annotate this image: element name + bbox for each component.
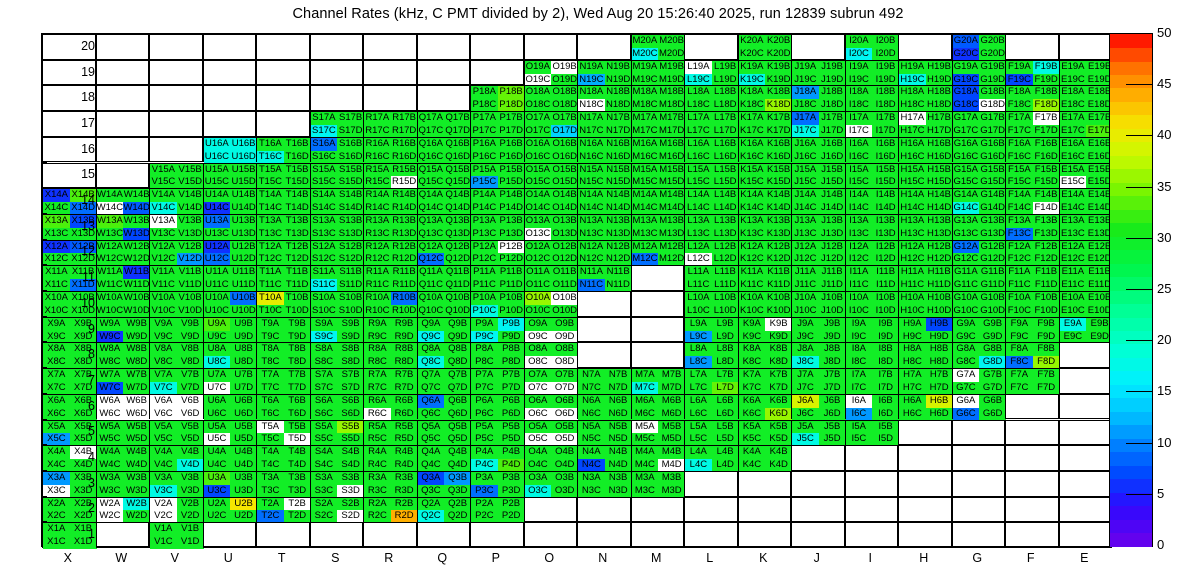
channel-cell[interactable]: H13A <box>899 215 926 228</box>
channel-cell[interactable]: N7A <box>578 369 605 382</box>
channel-cell[interactable]: O13A <box>525 215 552 228</box>
channel-cell[interactable]: N18B <box>605 86 632 99</box>
channel-cell[interactable]: O10A <box>525 292 552 305</box>
channel-cell[interactable]: H15B <box>926 164 953 177</box>
channel-cell[interactable]: E17A <box>1060 112 1087 125</box>
channel-cell[interactable]: G13A <box>953 215 980 228</box>
channel-cell[interactable]: W8B <box>123 343 150 356</box>
channel-cell[interactable]: M7A <box>632 369 659 382</box>
channel-cell[interactable]: W10B <box>123 292 150 305</box>
channel-cell[interactable]: N17B <box>605 112 632 125</box>
channel-cell[interactable]: H15A <box>899 164 926 177</box>
channel-cell[interactable]: I16B <box>872 138 899 151</box>
channel-cell[interactable]: W2A <box>97 498 124 511</box>
channel-cell[interactable]: W6A <box>97 395 124 408</box>
channel-cell[interactable]: R3B <box>391 472 418 485</box>
channel-cell[interactable]: H16B <box>926 138 953 151</box>
channel-cell[interactable]: F16A <box>1006 138 1033 151</box>
channel-cell[interactable]: H14A <box>899 189 926 202</box>
channel-cell[interactable]: S6B <box>337 395 364 408</box>
channel-cell[interactable]: G13B <box>979 215 1006 228</box>
channel-cell[interactable]: O5A <box>525 421 552 434</box>
channel-cell[interactable]: K19A <box>739 61 766 74</box>
channel-cell[interactable]: W3A <box>97 472 124 485</box>
channel-cell[interactable]: H18B <box>926 86 953 99</box>
channel-cell[interactable]: H11B <box>926 266 953 279</box>
channel-cell[interactable]: L17A <box>685 112 712 125</box>
channel-cell[interactable]: V2B <box>177 498 204 511</box>
channel-cell[interactable]: T13A <box>257 215 284 228</box>
channel-cell[interactable]: F15B <box>1033 164 1060 177</box>
channel-cell[interactable]: M12B <box>658 241 685 254</box>
channel-cell[interactable]: N13B <box>605 215 632 228</box>
channel-cell[interactable]: P3B <box>498 472 525 485</box>
channel-cell[interactable]: M16A <box>632 138 659 151</box>
channel-cell[interactable]: Q4B <box>444 446 471 459</box>
channel-cell[interactable]: K10A <box>739 292 766 305</box>
channel-cell[interactable]: L14A <box>685 189 712 202</box>
channel-cell[interactable]: F15A <box>1006 164 1033 177</box>
channel-cell[interactable]: K17A <box>739 112 766 125</box>
channel-cell[interactable]: L16B <box>712 138 739 151</box>
channel-cell[interactable]: J8A <box>792 343 819 356</box>
channel-cell[interactable]: S17B <box>337 112 364 125</box>
channel-cell[interactable]: Q13A <box>418 215 445 228</box>
channel-cell[interactable]: K5A <box>739 421 766 434</box>
channel-cell[interactable]: O4A <box>525 446 552 459</box>
channel-cell[interactable]: M13A <box>632 215 659 228</box>
channel-cell[interactable]: F9B <box>1033 318 1060 331</box>
channel-cell[interactable]: I14A <box>846 189 873 202</box>
channel-cell[interactable]: M17A <box>632 112 659 125</box>
channel-cell[interactable]: T10B <box>284 292 311 305</box>
channel-cell[interactable]: P6B <box>498 395 525 408</box>
channel-cell[interactable]: V5B <box>177 421 204 434</box>
channel-cell[interactable]: H11A <box>899 266 926 279</box>
channel-cell[interactable]: W14A <box>97 189 124 202</box>
channel-cell[interactable]: S4A <box>311 446 338 459</box>
channel-cell[interactable]: Q7B <box>444 369 471 382</box>
channel-cell[interactable]: T16A <box>257 138 284 151</box>
channel-cell[interactable]: M6A <box>632 395 659 408</box>
channel-cell[interactable]: I13A <box>846 215 873 228</box>
channel-cell[interactable]: M5A <box>632 421 659 434</box>
channel-cell[interactable]: O12A <box>525 241 552 254</box>
channel-cell[interactable]: S10B <box>337 292 364 305</box>
channel-cell[interactable]: U5B <box>230 421 257 434</box>
channel-cell[interactable]: G18A <box>953 86 980 99</box>
channel-cell[interactable]: S12B <box>337 241 364 254</box>
channel-cell[interactable]: U9A <box>204 318 231 331</box>
channel-cell[interactable]: G12A <box>953 241 980 254</box>
channel-cell[interactable]: S13A <box>311 215 338 228</box>
channel-cell[interactable]: H6A <box>899 395 926 408</box>
channel-cell[interactable]: R10B <box>391 292 418 305</box>
channel-cell[interactable]: N18A <box>578 86 605 99</box>
channel-cell[interactable]: G16A <box>953 138 980 151</box>
channel-cell[interactable]: Q3A <box>418 472 445 485</box>
channel-cell[interactable]: Q6B <box>444 395 471 408</box>
channel-cell[interactable]: Q5B <box>444 421 471 434</box>
channel-cell[interactable]: H18A <box>899 86 926 99</box>
channel-cell[interactable]: G14B <box>979 189 1006 202</box>
channel-cell[interactable]: N5A <box>578 421 605 434</box>
channel-cell[interactable]: I9A <box>846 318 873 331</box>
channel-cell[interactable]: L7A <box>685 369 712 382</box>
channel-cell[interactable]: M13B <box>658 215 685 228</box>
channel-cell[interactable]: P2A <box>471 498 498 511</box>
channel-cell[interactable]: S11A <box>311 266 338 279</box>
channel-cell[interactable]: L9B <box>712 318 739 331</box>
channel-cell[interactable]: M14A <box>632 189 659 202</box>
channel-cell[interactable]: N6B <box>605 395 632 408</box>
channel-cell[interactable]: G11B <box>979 266 1006 279</box>
channel-cell[interactable]: W3B <box>123 472 150 485</box>
channel-cell[interactable]: L12B <box>712 241 739 254</box>
channel-cell[interactable]: N6A <box>578 395 605 408</box>
channel-cell[interactable]: U11B <box>230 266 257 279</box>
channel-cell[interactable]: H6B <box>926 395 953 408</box>
channel-cell[interactable]: P18A <box>471 86 498 99</box>
channel-cell[interactable]: P15B <box>498 164 525 177</box>
channel-cell[interactable]: N4B <box>605 446 632 459</box>
channel-cell[interactable]: R17B <box>391 112 418 125</box>
channel-cell[interactable]: W9B <box>123 318 150 331</box>
channel-cell[interactable]: O9B <box>551 318 578 331</box>
channel-cell[interactable]: W12B <box>123 241 150 254</box>
channel-cell[interactable]: U14A <box>204 189 231 202</box>
channel-cell[interactable]: O11B <box>551 266 578 279</box>
channel-cell[interactable]: G7A <box>953 369 980 382</box>
channel-cell[interactable]: S15A <box>311 164 338 177</box>
channel-cell[interactable]: P13B <box>498 215 525 228</box>
channel-cell[interactable]: J15A <box>792 164 819 177</box>
channel-cell[interactable]: F10A <box>1006 292 1033 305</box>
channel-cell[interactable]: H9A <box>899 318 926 331</box>
channel-cell[interactable]: W13A <box>97 215 124 228</box>
channel-cell[interactable]: O5B <box>551 421 578 434</box>
channel-cell[interactable]: L14B <box>712 189 739 202</box>
channel-cell[interactable]: P12B <box>498 241 525 254</box>
channel-cell[interactable]: W9A <box>97 318 124 331</box>
channel-cell[interactable]: O15B <box>551 164 578 177</box>
channel-cell[interactable]: L16A <box>685 138 712 151</box>
channel-cell[interactable]: H14B <box>926 189 953 202</box>
channel-cell[interactable]: Q10B <box>444 292 471 305</box>
channel-cell[interactable]: M18A <box>632 86 659 99</box>
channel-cell[interactable]: P5A <box>471 421 498 434</box>
channel-cell[interactable]: Q6A <box>418 395 445 408</box>
channel-cell[interactable]: J16A <box>792 138 819 151</box>
channel-cell[interactable]: T5A <box>257 421 284 434</box>
channel-cell[interactable]: K4A <box>739 446 766 459</box>
channel-cell[interactable]: R17A <box>364 112 391 125</box>
channel-cell[interactable]: M15B <box>658 164 685 177</box>
channel-cell[interactable]: U7B <box>230 369 257 382</box>
channel-cell[interactable]: Q17B <box>444 112 471 125</box>
channel-cell[interactable]: P15A <box>471 164 498 177</box>
channel-cell[interactable]: T13B <box>284 215 311 228</box>
channel-cell[interactable]: S13B <box>337 215 364 228</box>
channel-cell[interactable]: V3A <box>150 472 177 485</box>
channel-cell[interactable]: F19A <box>1006 61 1033 74</box>
channel-cell[interactable]: J17B <box>819 112 846 125</box>
channel-cell[interactable]: H19B <box>926 61 953 74</box>
channel-cell[interactable]: K17B <box>765 112 792 125</box>
channel-cell[interactable]: K14A <box>739 189 766 202</box>
channel-cell[interactable]: O7B <box>551 369 578 382</box>
channel-cell[interactable]: K6B <box>765 395 792 408</box>
channel-cell[interactable]: Q4A <box>418 446 445 459</box>
channel-cell[interactable]: N7B <box>605 369 632 382</box>
channel-cell[interactable]: S5A <box>311 421 338 434</box>
channel-cell[interactable]: S14A <box>311 189 338 202</box>
channel-cell[interactable]: Q12A <box>418 241 445 254</box>
channel-cell[interactable]: J6A <box>792 395 819 408</box>
channel-cell[interactable]: H13B <box>926 215 953 228</box>
channel-cell[interactable]: T15A <box>257 164 284 177</box>
channel-cell[interactable]: V6B <box>177 395 204 408</box>
channel-cell[interactable]: E10A <box>1060 292 1087 305</box>
channel-cell[interactable]: K20A <box>739 35 766 48</box>
channel-cell[interactable]: F11A <box>1006 266 1033 279</box>
channel-cell[interactable]: K16B <box>765 138 792 151</box>
channel-cell[interactable]: G19A <box>953 61 980 74</box>
channel-cell[interactable]: S12A <box>311 241 338 254</box>
channel-cell[interactable]: J10B <box>819 292 846 305</box>
channel-cell[interactable]: V2A <box>150 498 177 511</box>
channel-cell[interactable]: F11B <box>1033 266 1060 279</box>
channel-cell[interactable]: Q11A <box>418 266 445 279</box>
channel-cell[interactable]: G9B <box>979 318 1006 331</box>
channel-cell[interactable]: U16B <box>230 138 257 151</box>
channel-cell[interactable]: O6B <box>551 395 578 408</box>
channel-cell[interactable]: P10A <box>471 292 498 305</box>
channel-cell[interactable]: G10B <box>979 292 1006 305</box>
channel-cell[interactable]: L10B <box>712 292 739 305</box>
channel-cell[interactable]: S5B <box>337 421 364 434</box>
channel-cell[interactable]: R15B <box>391 164 418 177</box>
channel-cell[interactable]: T4A <box>257 446 284 459</box>
channel-cell[interactable]: Q10A <box>418 292 445 305</box>
channel-cell[interactable]: J12A <box>792 241 819 254</box>
channel-cell[interactable]: O3B <box>551 472 578 485</box>
channel-cell[interactable]: I12B <box>872 241 899 254</box>
channel-cell[interactable]: O18B <box>551 86 578 99</box>
channel-cell[interactable]: E18A <box>1060 86 1087 99</box>
channel-cell[interactable]: K13B <box>765 215 792 228</box>
channel-cell[interactable]: V8A <box>150 343 177 356</box>
channel-cell[interactable]: W4A <box>97 446 124 459</box>
channel-cell[interactable]: K12A <box>739 241 766 254</box>
channel-cell[interactable]: W12A <box>97 241 124 254</box>
channel-cell[interactable]: K13A <box>739 215 766 228</box>
channel-cell[interactable]: M7B <box>658 369 685 382</box>
channel-cell[interactable]: R13A <box>364 215 391 228</box>
channel-cell[interactable]: S15B <box>337 164 364 177</box>
channel-cell[interactable]: L11A <box>685 266 712 279</box>
channel-cell[interactable]: I13B <box>872 215 899 228</box>
channel-cell[interactable]: V1D <box>177 536 204 549</box>
channel-cell[interactable]: I18B <box>872 86 899 99</box>
channel-cell[interactable]: O13B <box>551 215 578 228</box>
channel-cell[interactable]: E15A <box>1060 164 1087 177</box>
channel-cell[interactable]: L4B <box>712 446 739 459</box>
channel-cell[interactable]: J9A <box>792 318 819 331</box>
channel-cell[interactable]: M19A <box>632 61 659 74</box>
channel-cell[interactable]: G15B <box>979 164 1006 177</box>
channel-cell[interactable]: L7B <box>712 369 739 382</box>
channel-cell[interactable]: G16B <box>979 138 1006 151</box>
channel-cell[interactable]: J16B <box>819 138 846 151</box>
channel-cell[interactable]: K15A <box>739 164 766 177</box>
channel-cell[interactable]: O3A <box>525 472 552 485</box>
channel-cell[interactable]: T14A <box>257 189 284 202</box>
channel-cell[interactable]: P14A <box>471 189 498 202</box>
channel-cell[interactable]: T12A <box>257 241 284 254</box>
channel-cell[interactable]: I7A <box>846 369 873 382</box>
channel-cell[interactable]: R9B <box>391 318 418 331</box>
channel-cell[interactable]: T2B <box>284 498 311 511</box>
channel-cell[interactable]: J11A <box>792 266 819 279</box>
channel-cell[interactable]: T5B <box>284 421 311 434</box>
channel-cell[interactable]: L11B <box>712 266 739 279</box>
channel-cell[interactable]: M4B <box>658 446 685 459</box>
channel-cell[interactable]: R13B <box>391 215 418 228</box>
channel-cell[interactable]: U2A <box>204 498 231 511</box>
channel-cell[interactable]: Q9A <box>418 318 445 331</box>
channel-cell[interactable]: I14B <box>872 189 899 202</box>
channel-cell[interactable]: N19A <box>578 61 605 74</box>
channel-cell[interactable]: I20A <box>846 35 873 48</box>
channel-cell[interactable]: R11B <box>391 266 418 279</box>
channel-cell[interactable]: G6A <box>953 395 980 408</box>
channel-cell[interactable]: J5B <box>819 421 846 434</box>
channel-cell[interactable]: L5A <box>685 421 712 434</box>
channel-cell[interactable]: T7A <box>257 369 284 382</box>
channel-cell[interactable]: H16A <box>899 138 926 151</box>
channel-cell[interactable]: U6B <box>230 395 257 408</box>
channel-cell[interactable]: J17A <box>792 112 819 125</box>
channel-cell[interactable]: T3A <box>257 472 284 485</box>
channel-cell[interactable]: T11B <box>284 266 311 279</box>
channel-cell[interactable]: R15A <box>364 164 391 177</box>
channel-cell[interactable]: F14A <box>1006 189 1033 202</box>
channel-cell[interactable]: N11B <box>605 266 632 279</box>
channel-cell[interactable]: N12B <box>605 241 632 254</box>
channel-cell[interactable]: G18B <box>979 86 1006 99</box>
channel-cell[interactable]: U4B <box>230 446 257 459</box>
channel-cell[interactable]: Q14B <box>444 189 471 202</box>
channel-cell[interactable]: O8A <box>525 343 552 356</box>
channel-cell[interactable]: M19B <box>658 61 685 74</box>
channel-cell[interactable]: L18A <box>685 86 712 99</box>
channel-cell[interactable]: P8A <box>471 343 498 356</box>
channel-cell[interactable]: L9A <box>685 318 712 331</box>
channel-cell[interactable]: U12A <box>204 241 231 254</box>
channel-cell[interactable]: H8B <box>926 343 953 356</box>
channel-cell[interactable]: E13A <box>1060 215 1087 228</box>
channel-cell[interactable]: K6A <box>739 395 766 408</box>
channel-cell[interactable]: I18A <box>846 86 873 99</box>
channel-cell[interactable]: O14A <box>525 189 552 202</box>
channel-cell[interactable]: V3B <box>177 472 204 485</box>
channel-cell[interactable]: V13B <box>177 215 204 228</box>
channel-cell[interactable]: P9B <box>498 318 525 331</box>
channel-cell[interactable]: M17B <box>658 112 685 125</box>
channel-cell[interactable]: K19B <box>765 61 792 74</box>
channel-cell[interactable]: O14B <box>551 189 578 202</box>
channel-cell[interactable]: J9B <box>819 318 846 331</box>
channel-cell[interactable]: I6A <box>846 395 873 408</box>
channel-cell[interactable]: R7B <box>391 369 418 382</box>
channel-cell[interactable]: O8B <box>551 343 578 356</box>
channel-cell[interactable]: M3A <box>632 472 659 485</box>
channel-cell[interactable]: N5B <box>605 421 632 434</box>
channel-cell[interactable]: S8B <box>337 343 364 356</box>
channel-cell[interactable]: N12A <box>578 241 605 254</box>
channel-cell[interactable]: F12B <box>1033 241 1060 254</box>
channel-cell[interactable]: L13B <box>712 215 739 228</box>
channel-cell[interactable]: R9A <box>364 318 391 331</box>
channel-cell[interactable]: F16B <box>1033 138 1060 151</box>
channel-cell[interactable]: V1B <box>177 523 204 536</box>
channel-cell[interactable]: R12A <box>364 241 391 254</box>
channel-cell[interactable]: T9B <box>284 318 311 331</box>
channel-cell[interactable]: V11B <box>177 266 204 279</box>
channel-cell[interactable]: H7A <box>899 369 926 382</box>
channel-cell[interactable]: Q2B <box>444 498 471 511</box>
channel-cell[interactable]: L8A <box>685 343 712 356</box>
channel-cell[interactable]: W7A <box>97 369 124 382</box>
channel-cell[interactable]: T3B <box>284 472 311 485</box>
channel-cell[interactable]: O10B <box>551 292 578 305</box>
channel-cell[interactable]: V6A <box>150 395 177 408</box>
channel-cell[interactable]: O18A <box>525 86 552 99</box>
channel-cell[interactable]: V9B <box>177 318 204 331</box>
channel-cell[interactable]: P17A <box>471 112 498 125</box>
channel-cell[interactable]: Q17A <box>418 112 445 125</box>
channel-cell[interactable]: M20A <box>632 35 659 48</box>
channel-cell[interactable]: L18B <box>712 86 739 99</box>
channel-cell[interactable]: T7B <box>284 369 311 382</box>
channel-cell[interactable]: I19A <box>846 61 873 74</box>
channel-cell[interactable]: S3A <box>311 472 338 485</box>
channel-cell[interactable]: Q3B <box>444 472 471 485</box>
channel-cell[interactable]: O15A <box>525 164 552 177</box>
channel-cell[interactable]: S17A <box>311 112 338 125</box>
channel-cell[interactable]: P16B <box>498 138 525 151</box>
channel-cell[interactable]: T8B <box>284 343 311 356</box>
channel-cell[interactable]: W4B <box>123 446 150 459</box>
channel-cell[interactable]: H12B <box>926 241 953 254</box>
channel-cell[interactable]: U13B <box>230 215 257 228</box>
channel-cell[interactable]: K15B <box>765 164 792 177</box>
channel-cell[interactable]: V14B <box>177 189 204 202</box>
channel-cell[interactable]: N3A <box>578 472 605 485</box>
channel-cell[interactable]: I15A <box>846 164 873 177</box>
channel-cell[interactable]: S16A <box>311 138 338 151</box>
channel-cell[interactable]: K11A <box>739 266 766 279</box>
channel-cell[interactable]: K16A <box>739 138 766 151</box>
channel-cell[interactable]: G15A <box>953 164 980 177</box>
channel-cell[interactable]: K5B <box>765 421 792 434</box>
channel-cell[interactable]: S6A <box>311 395 338 408</box>
channel-cell[interactable]: W5B <box>123 421 150 434</box>
channel-cell[interactable]: M4A <box>632 446 659 459</box>
channel-cell[interactable]: L4A <box>685 446 712 459</box>
channel-cell[interactable]: N15B <box>605 164 632 177</box>
